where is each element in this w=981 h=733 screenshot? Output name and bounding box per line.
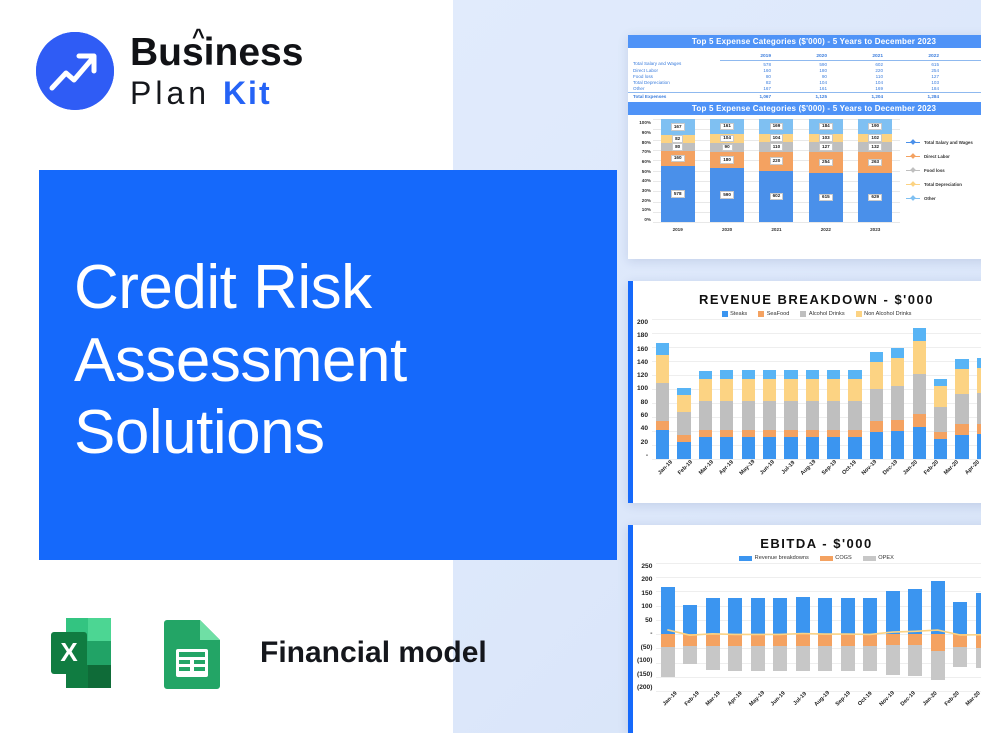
x-tick: 2019 bbox=[661, 227, 695, 232]
legend-item: Total Depreciation bbox=[906, 182, 981, 187]
bar-segment bbox=[977, 424, 981, 434]
bar-value-label: 220 bbox=[770, 157, 784, 165]
bar-value-label: 169 bbox=[770, 123, 784, 131]
bar-column bbox=[673, 388, 694, 459]
legend-label: Non Alcohol Drinks bbox=[864, 311, 911, 317]
bar-column bbox=[823, 370, 844, 459]
chart-legend: Total Salary and WagesDirect LaborFood l… bbox=[900, 119, 981, 233]
expense-percent-stacked-chart: 100%90%80%70%60%50%40%30%20%10%0% 167828… bbox=[628, 115, 981, 233]
bar-segment bbox=[699, 379, 712, 401]
legend-label: Revenue breakdowns bbox=[755, 555, 809, 561]
legend-label: Food loss bbox=[924, 168, 945, 173]
legend-label: Total Depreciation bbox=[924, 182, 962, 187]
y-axis-labels: 100%90%80%70%60%50%40%30%20%10%0% bbox=[631, 119, 653, 233]
row-label: Total Expenses bbox=[628, 92, 720, 99]
bar-segment bbox=[977, 358, 981, 368]
table-col-header: 2022 bbox=[888, 53, 944, 61]
row-label: Other bbox=[628, 86, 720, 93]
bar-segment: 127 bbox=[809, 142, 843, 152]
row-label: Total Salary and Wages bbox=[628, 61, 720, 68]
bar-segment bbox=[784, 379, 797, 401]
cell: 590 bbox=[776, 61, 832, 68]
ebitda-chart-title: EBITDA - $'000 bbox=[633, 525, 981, 553]
y-tick: 50% bbox=[631, 169, 651, 174]
bar-positive bbox=[751, 598, 765, 634]
bar-segment bbox=[742, 401, 755, 430]
bar-cogs bbox=[683, 634, 697, 646]
y-tick: 100 bbox=[637, 603, 652, 610]
bar-column: 1691041102206022021 bbox=[759, 119, 793, 222]
bar-segment: 615 bbox=[809, 173, 843, 222]
bar-segment bbox=[720, 437, 733, 459]
bar-segment bbox=[913, 427, 926, 459]
revenue-x-axis: Jan-19Feb-19Mar-19Apr-19May-19Jun-19Jul-… bbox=[633, 459, 981, 499]
bar-segment bbox=[656, 421, 669, 430]
cell: 578 bbox=[720, 61, 776, 68]
cell: 629 bbox=[944, 61, 981, 68]
bar-column bbox=[881, 563, 904, 691]
y-tick: 200 bbox=[637, 319, 648, 326]
bar-column bbox=[951, 359, 972, 459]
cell: 1,067 bbox=[720, 92, 776, 99]
legend-item: Alcohol Drinks bbox=[800, 311, 844, 317]
bar-segment bbox=[806, 437, 819, 459]
bar-column bbox=[679, 563, 702, 691]
y-tick: 100% bbox=[631, 120, 651, 125]
bar-value-label: 578 bbox=[671, 190, 685, 198]
growth-arrow-icon bbox=[36, 32, 114, 110]
bar-segment bbox=[870, 389, 883, 421]
bar-column bbox=[656, 563, 679, 691]
y-tick: - bbox=[637, 452, 648, 459]
legend-label: COGS bbox=[835, 555, 851, 561]
bar-segment bbox=[848, 401, 861, 430]
bar-segment: 169 bbox=[759, 119, 793, 133]
table-col-header: 2019 bbox=[720, 53, 776, 61]
y-tick: 0% bbox=[631, 217, 651, 222]
page-title: Credit Risk Assessment Solutions bbox=[74, 252, 604, 470]
bar-value-label: 167 bbox=[671, 123, 685, 131]
y-tick: 20 bbox=[637, 439, 648, 446]
bar-column bbox=[930, 379, 951, 459]
page-title-line-1: Credit Risk bbox=[74, 252, 604, 325]
bar-segment bbox=[870, 432, 883, 459]
table-col-header: 2021 bbox=[832, 53, 888, 61]
bar-segment bbox=[806, 379, 819, 401]
bar-segment bbox=[891, 348, 904, 358]
bar-cogs bbox=[728, 634, 742, 646]
bar-segment bbox=[891, 431, 904, 459]
bar-segment bbox=[720, 370, 733, 378]
bar-segment: 220 bbox=[759, 152, 793, 171]
bar-segment bbox=[827, 379, 840, 401]
bar-cogs bbox=[751, 634, 765, 646]
bar-column bbox=[716, 370, 737, 459]
bar-value-label: 180 bbox=[720, 156, 734, 164]
bar-column bbox=[866, 352, 887, 459]
legend-item: Direct Labor bbox=[906, 154, 981, 159]
page-title-line-2: Assessment bbox=[74, 325, 604, 398]
legend-item: Other bbox=[906, 196, 981, 201]
bar-segment: 167 bbox=[661, 119, 695, 135]
bar-segment: 80 bbox=[661, 143, 695, 151]
bar-opex bbox=[796, 646, 810, 670]
logo-kit-text: Kit bbox=[223, 75, 272, 111]
y-tick: (100) bbox=[637, 657, 652, 664]
bar-segment bbox=[913, 374, 926, 413]
ebitda-chart-legend: Revenue breakdownsCOGSOPEX bbox=[633, 553, 981, 563]
table-total-row: Total Expenses 1,067 1,125 1,204 1,284 1… bbox=[628, 92, 981, 99]
svg-text:X: X bbox=[60, 637, 78, 667]
bar-segment bbox=[955, 394, 968, 424]
bar-segment bbox=[891, 386, 904, 420]
bar-segment: 629 bbox=[858, 173, 892, 222]
brand-logo: Business ^ Plan Kit bbox=[36, 32, 303, 110]
bar-segment bbox=[742, 379, 755, 401]
bar-positive bbox=[863, 598, 877, 634]
bar-segment bbox=[955, 435, 968, 460]
cell: 1,125 bbox=[776, 92, 832, 99]
revenue-chart-legend: SteaksSeaFoodAlcohol DrinksNon Alcohol D… bbox=[633, 309, 981, 319]
bar-cogs bbox=[953, 634, 967, 647]
logo-circumflex-icon: ^ bbox=[192, 26, 205, 48]
revenue-chart-title: REVENUE BREAKDOWN - $'000 bbox=[633, 281, 981, 309]
bar-segment bbox=[827, 437, 840, 459]
bar-segment: 104 bbox=[759, 134, 793, 143]
bar-opex bbox=[908, 645, 922, 676]
bar-opex bbox=[863, 646, 877, 670]
bar-segment bbox=[870, 362, 883, 389]
bar-segment bbox=[656, 430, 669, 459]
legend-label: Alcohol Drinks bbox=[809, 311, 845, 317]
bar-segment bbox=[934, 432, 947, 439]
bar-segment bbox=[913, 414, 926, 427]
bar-column bbox=[695, 371, 716, 459]
bar-column bbox=[814, 563, 837, 691]
legend-swatch bbox=[820, 556, 833, 561]
bar-segment bbox=[806, 370, 819, 378]
revenue-plot-area bbox=[652, 319, 981, 459]
logo-plan-text: Plan bbox=[130, 75, 210, 111]
legend-item: COGS bbox=[820, 555, 852, 561]
bar-value-label: 110 bbox=[770, 143, 783, 151]
bar-segment bbox=[977, 368, 981, 393]
legend-marker bbox=[906, 170, 920, 172]
cell: 190 bbox=[944, 86, 981, 93]
bar-positive bbox=[931, 581, 945, 634]
legend-swatch bbox=[863, 556, 876, 561]
legend-label: SeaFood bbox=[767, 311, 790, 317]
bar-segment bbox=[955, 424, 968, 435]
bar-segment bbox=[934, 439, 947, 459]
bar-segment: 190 bbox=[858, 119, 892, 134]
revenue-y-axis: 20018016014012010080604020- bbox=[637, 319, 652, 459]
bar-segment bbox=[742, 437, 755, 459]
y-tick: 80% bbox=[631, 140, 651, 145]
cell: 169 bbox=[832, 86, 888, 93]
bar-opex bbox=[886, 645, 900, 675]
legend-item: Revenue breakdowns bbox=[739, 555, 809, 561]
y-tick: 90% bbox=[631, 130, 651, 135]
bar-opex bbox=[818, 646, 832, 670]
bar-column: 1841031272546152022 bbox=[809, 119, 843, 222]
bar-positive bbox=[818, 598, 832, 634]
bar-segment bbox=[699, 437, 712, 459]
financial-model-label: Financial model bbox=[260, 636, 487, 670]
bar-positive bbox=[683, 605, 697, 634]
bar-opex bbox=[706, 646, 720, 670]
cell: 1,284 bbox=[888, 92, 944, 99]
y-tick: 250 bbox=[637, 563, 652, 570]
legend-label: Other bbox=[924, 196, 936, 201]
legend-swatch bbox=[722, 311, 728, 317]
table-col-header: 2023 bbox=[944, 53, 981, 61]
bar-positive bbox=[976, 593, 981, 634]
logo-word-business: Business ^ bbox=[130, 33, 303, 72]
bar-column bbox=[859, 563, 882, 691]
bar-segment: 103 bbox=[809, 134, 843, 142]
bar-segment bbox=[784, 437, 797, 459]
bar-value-label: 103 bbox=[819, 134, 833, 142]
bar-value-label: 104 bbox=[720, 135, 734, 143]
bar-column: 161104901805902020 bbox=[710, 119, 744, 222]
page-title-line-3: Solutions bbox=[74, 397, 604, 470]
table-col-header bbox=[628, 53, 720, 61]
bar-segment: 590 bbox=[710, 168, 744, 222]
y-tick: 60% bbox=[631, 159, 651, 164]
bar-column bbox=[701, 563, 724, 691]
table-row: Total Salary and Wages 578 590 602 615 6… bbox=[628, 61, 981, 68]
bar-segment bbox=[934, 386, 947, 406]
bar-value-label: 80 bbox=[672, 143, 683, 151]
legend-label: Steaks bbox=[730, 311, 747, 317]
bar-segment bbox=[720, 379, 733, 401]
bar-segment bbox=[913, 341, 926, 374]
bar-segment bbox=[720, 401, 733, 430]
revenue-bars bbox=[652, 319, 981, 459]
y-tick: 150 bbox=[637, 590, 652, 597]
cell: 1,204 bbox=[832, 92, 888, 99]
bar-column bbox=[887, 348, 908, 459]
bar-segment: 160 bbox=[661, 151, 695, 166]
bar-segment: 102 bbox=[858, 134, 892, 142]
cell: 615 bbox=[888, 61, 944, 68]
bar-segment bbox=[763, 370, 776, 378]
bar-positive bbox=[773, 598, 787, 634]
bar-positive bbox=[908, 589, 922, 634]
table-row: Other 167 161 169 184 190 bbox=[628, 86, 981, 93]
expense-table: 2019 2020 2021 2022 2023 Total Salary an… bbox=[628, 53, 981, 99]
logo-business-text: Business bbox=[130, 31, 303, 74]
bar-column bbox=[746, 563, 769, 691]
bar-value-label: 161 bbox=[720, 123, 734, 131]
bar-opex bbox=[953, 647, 967, 667]
bar-segment bbox=[806, 401, 819, 430]
x-tick: 2023 bbox=[858, 227, 892, 232]
bar-opex bbox=[841, 646, 855, 670]
bar-cogs bbox=[863, 634, 877, 646]
legend-swatch bbox=[758, 311, 764, 317]
legend-marker bbox=[906, 198, 920, 200]
legend-label: Direct Labor bbox=[924, 154, 950, 159]
ebitda-card: EBITDA - $'000 Revenue breakdownsCOGSOPE… bbox=[628, 525, 981, 733]
y-tick: (200) bbox=[637, 684, 652, 691]
bar-opex bbox=[751, 646, 765, 670]
bar-column bbox=[769, 563, 792, 691]
bar-segment: 132 bbox=[858, 142, 892, 152]
x-tick: 2022 bbox=[809, 227, 843, 232]
bar-segment: 254 bbox=[809, 152, 843, 172]
ebitda-x-axis: Jan-19Feb-19Mar-19Apr-19May-19Jun-19Jul-… bbox=[633, 691, 981, 725]
expense-categories-card: Top 5 Expense Categories ($'000) - 5 Yea… bbox=[628, 35, 981, 259]
ebitda-plot-area bbox=[656, 563, 981, 691]
bar-value-label: 82 bbox=[672, 135, 683, 143]
legend-swatch bbox=[739, 556, 752, 561]
bar-segment bbox=[699, 371, 712, 379]
bar-segment bbox=[742, 370, 755, 378]
bar-cogs bbox=[706, 634, 720, 646]
y-tick: 120 bbox=[637, 372, 648, 379]
bar-segment bbox=[677, 395, 690, 413]
bar-column: 1901021322636292023 bbox=[858, 119, 892, 222]
bar-cogs bbox=[931, 634, 945, 650]
bar-positive bbox=[796, 597, 810, 634]
bar-opex bbox=[976, 648, 981, 668]
bar-column bbox=[973, 358, 981, 459]
bar-column bbox=[909, 328, 930, 459]
legend-item: OPEX bbox=[863, 555, 894, 561]
legend-label: OPEX bbox=[878, 555, 894, 561]
bar-segment bbox=[677, 442, 690, 460]
bar-value-label: 160 bbox=[671, 155, 685, 163]
bar-column bbox=[904, 563, 927, 691]
bar-segment bbox=[763, 401, 776, 430]
y-tick: - bbox=[637, 630, 652, 637]
bar-value-label: 184 bbox=[819, 123, 833, 131]
bar-value-label: 132 bbox=[868, 143, 882, 151]
bar-cogs bbox=[841, 634, 855, 646]
plot-area: 1678280160578201916110490180590202016910… bbox=[653, 119, 900, 233]
table-header-row: 2019 2020 2021 2022 2023 bbox=[628, 53, 981, 61]
bar-value-label: 263 bbox=[868, 159, 882, 167]
bar-segment bbox=[763, 437, 776, 459]
bar-column bbox=[780, 370, 801, 459]
bar-segment bbox=[870, 421, 883, 432]
bar-column bbox=[844, 370, 865, 459]
bar-column: 16782801605782019 bbox=[661, 119, 695, 222]
bar-value-label: 127 bbox=[819, 143, 833, 151]
bar-positive bbox=[728, 598, 742, 634]
bar-segment bbox=[913, 328, 926, 341]
y-tick: 40 bbox=[637, 425, 648, 432]
y-tick: 20% bbox=[631, 198, 651, 203]
bar-segment: 184 bbox=[809, 119, 843, 134]
legend-marker bbox=[906, 142, 920, 144]
bar-opex bbox=[931, 651, 945, 681]
bar-column bbox=[971, 563, 981, 691]
bar-value-label: 602 bbox=[770, 193, 784, 201]
bar-segment bbox=[977, 393, 981, 424]
bar-segment bbox=[870, 352, 883, 363]
y-tick: (50) bbox=[637, 644, 652, 651]
bar-column bbox=[926, 563, 949, 691]
bar-segment: 180 bbox=[710, 152, 744, 168]
bar-segment bbox=[848, 379, 861, 401]
bar-column bbox=[949, 563, 972, 691]
bar-segment bbox=[784, 401, 797, 430]
cell: 1,316 bbox=[944, 92, 981, 99]
bar-segment bbox=[763, 379, 776, 401]
y-tick: 30% bbox=[631, 188, 651, 193]
cell: 184 bbox=[888, 86, 944, 93]
bar-segment bbox=[848, 370, 861, 378]
legend-swatch bbox=[800, 311, 806, 317]
bar-segment bbox=[827, 401, 840, 430]
bar-value-label: 615 bbox=[819, 194, 833, 202]
cell: 167 bbox=[720, 86, 776, 93]
bar-segment bbox=[977, 434, 981, 459]
bar-value-label: 104 bbox=[770, 134, 784, 142]
bar-segment bbox=[656, 343, 669, 355]
legend-label: Total Salary and Wages bbox=[924, 140, 973, 145]
legend-item: Food loss bbox=[906, 168, 981, 173]
bar-column bbox=[802, 370, 823, 459]
y-tick: 60 bbox=[637, 412, 648, 419]
bar-segment: 90 bbox=[710, 143, 744, 151]
legend-item: SeaFood bbox=[758, 311, 789, 317]
bar-segment bbox=[955, 369, 968, 394]
bar-column bbox=[652, 343, 673, 459]
bar-cogs bbox=[818, 634, 832, 646]
bar-value-label: 629 bbox=[868, 194, 882, 202]
bar-column bbox=[791, 563, 814, 691]
bar-cogs bbox=[773, 634, 787, 646]
revenue-breakdown-card: REVENUE BREAKDOWN - $'000 SteaksSeaFoodA… bbox=[628, 281, 981, 503]
bar-segment bbox=[891, 358, 904, 386]
bar-segment: 263 bbox=[858, 152, 892, 173]
table-col-header: 2020 bbox=[776, 53, 832, 61]
bar-cogs bbox=[908, 634, 922, 645]
bar-segment bbox=[827, 370, 840, 378]
y-tick: 50 bbox=[637, 617, 652, 624]
bar-value-label: 190 bbox=[868, 123, 882, 131]
bar-positive bbox=[661, 587, 675, 634]
google-sheets-icon bbox=[150, 611, 234, 695]
bar-cogs bbox=[661, 634, 675, 647]
bar-segment bbox=[677, 435, 690, 442]
microsoft-excel-icon: X bbox=[40, 611, 124, 695]
bar-column bbox=[738, 370, 759, 459]
bar-segment: 82 bbox=[661, 135, 695, 143]
y-tick: 160 bbox=[637, 346, 648, 353]
bar-segment bbox=[656, 355, 669, 384]
ebitda-y-axis: 25020015010050-(50)(100)(150)(200) bbox=[637, 563, 656, 691]
bar-segment bbox=[955, 359, 968, 369]
bar-segment: 110 bbox=[759, 142, 793, 151]
legend-swatch bbox=[856, 311, 862, 317]
bar-segment bbox=[784, 370, 797, 378]
bar-column bbox=[759, 370, 780, 459]
format-badges: X Financial model bbox=[40, 611, 487, 695]
expense-table-title: Top 5 Expense Categories ($'000) - 5 Yea… bbox=[628, 35, 981, 48]
bar-cogs bbox=[796, 634, 810, 646]
bar-segment bbox=[677, 412, 690, 434]
bar-segment: 602 bbox=[759, 171, 793, 222]
bar-column bbox=[836, 563, 859, 691]
bar-positive bbox=[841, 598, 855, 634]
bar-cogs bbox=[886, 634, 900, 645]
bar-segment: 578 bbox=[661, 166, 695, 222]
